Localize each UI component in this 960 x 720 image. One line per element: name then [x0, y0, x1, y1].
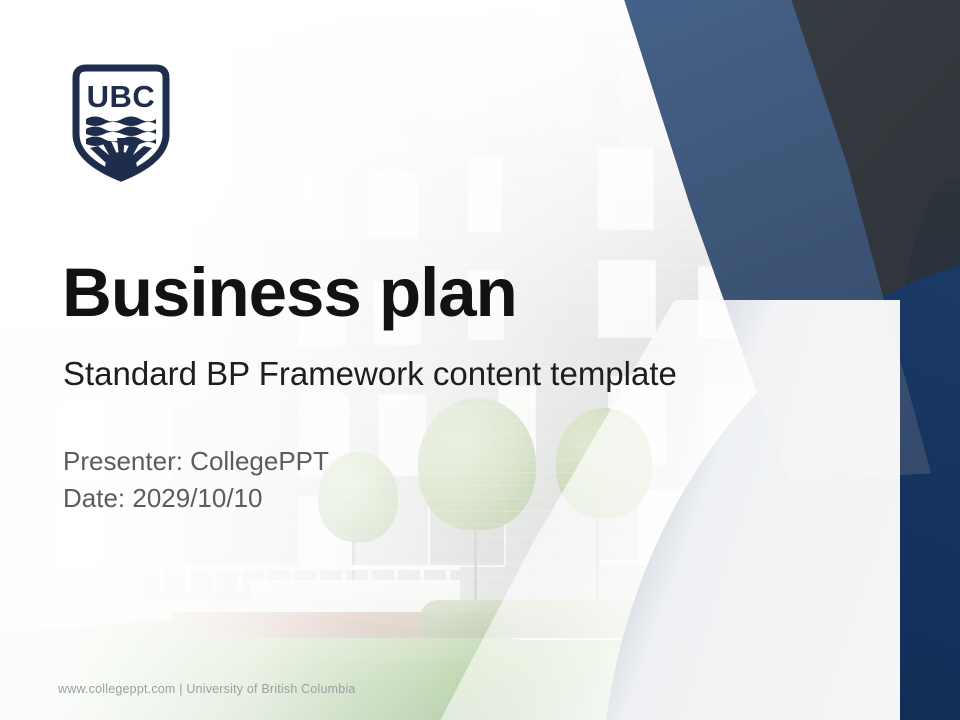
- slide-subtitle: Standard BP Framework content template: [63, 355, 677, 393]
- svg-text:UBC: UBC: [87, 79, 156, 114]
- slide-footer: www.collegeppt.com | University of Briti…: [58, 682, 356, 696]
- ubc-shield-logo: UBC: [72, 64, 170, 182]
- presenter-line: Presenter: CollegePPT: [63, 443, 329, 480]
- presentation-title-slide: UBC Business plan Standard BP Framework …: [0, 0, 960, 720]
- slide-metadata: Presenter: CollegePPT Date: 2029/10/10: [63, 443, 329, 517]
- date-line: Date: 2029/10/10: [63, 480, 329, 517]
- slide-title: Business plan: [62, 258, 517, 327]
